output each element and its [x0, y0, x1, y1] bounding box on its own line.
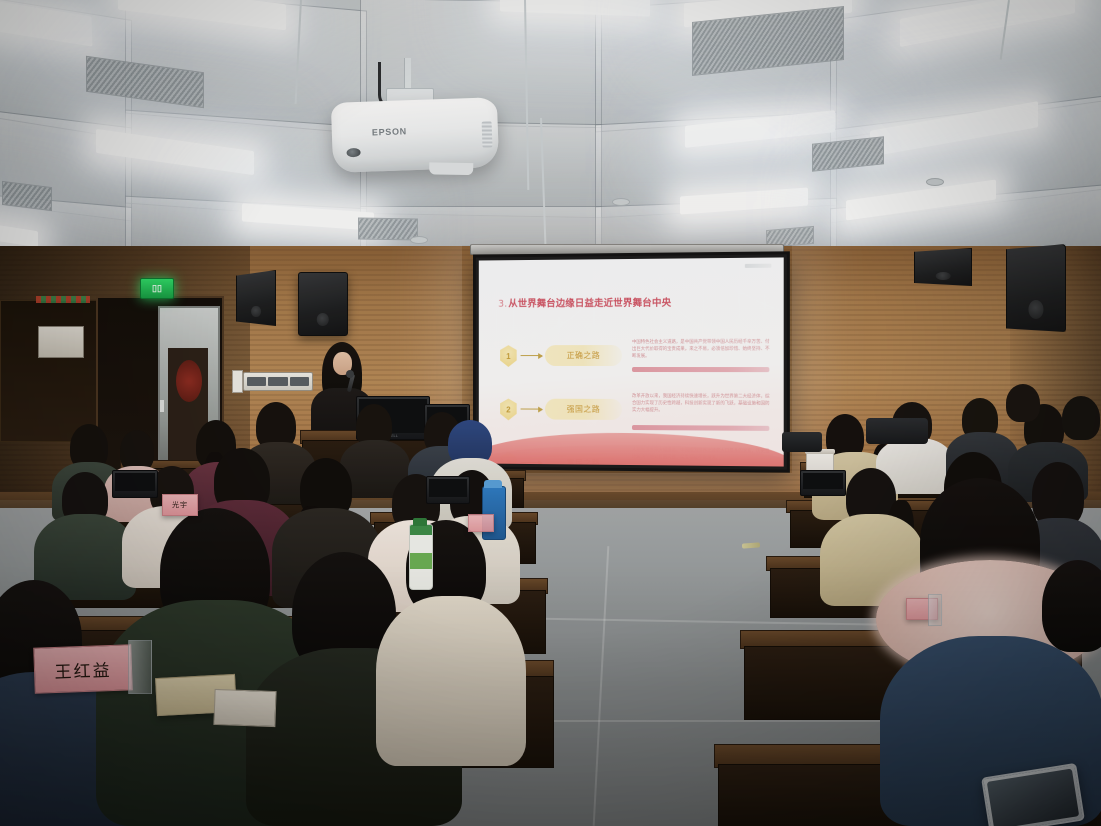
student-head	[1006, 384, 1040, 422]
doorway-red-object	[176, 360, 202, 402]
name-card-front-stand	[128, 640, 152, 694]
drink-bottle-green[interactable]	[409, 524, 433, 590]
exit-sign-glyph: ▯▯	[152, 284, 162, 293]
slide-row-2-label: 强国之路	[567, 404, 601, 415]
slide-row-1: 1 正确之路 中国特色社会主义道路，是中国共产党带领中国人民历经千辛万苦、付出巨…	[479, 335, 784, 390]
slide-title-text: 从世界舞台边缘日益走近世界舞台中央	[508, 298, 671, 310]
door-handle[interactable]	[160, 400, 164, 412]
student-body-front	[376, 596, 526, 766]
projector-vent	[482, 121, 493, 147]
name-card-mid: 光宇	[162, 494, 198, 516]
wall-control-panel[interactable]	[243, 372, 313, 391]
name-card-small-mid	[468, 514, 494, 532]
exit-sign: ▯▯	[140, 278, 174, 299]
slide-row-1-arrow-icon	[521, 355, 543, 356]
student-head	[1062, 396, 1100, 440]
smartphone-screen[interactable]	[987, 769, 1079, 826]
ceiling-air-vent	[358, 217, 418, 240]
slide-row-2-arrow-icon	[521, 409, 543, 410]
wall-notice-board	[38, 326, 84, 358]
wall-speaker-left-large	[298, 272, 348, 336]
name-card-front: 王红益	[33, 644, 133, 693]
slide-row-1-label: 正确之路	[567, 350, 601, 361]
slide-row-2-badge: 2	[500, 399, 517, 421]
projector-lens	[346, 148, 360, 157]
student-monitor	[112, 470, 158, 498]
wall-speaker-left-small	[236, 270, 276, 326]
slide-row-1-pill: 正确之路	[545, 345, 622, 366]
projection-screen: 3.从世界舞台边缘日益走近世界舞台中央 1 正确之路 中国特色社会主义道路，是中…	[473, 251, 790, 472]
wall-switch-strip[interactable]	[232, 370, 243, 393]
name-card-mid-text: 光宇	[172, 500, 188, 510]
presentation-slide: 3.从世界舞台边缘日益走近世界舞台中央 1 正确之路 中国特色社会主义道路，是中…	[479, 257, 784, 466]
epson-projector: EPSON	[331, 97, 499, 173]
slide-title-number: 3.	[498, 299, 507, 310]
slide-row-1-divider	[632, 367, 769, 372]
projector-foot	[429, 162, 473, 175]
ceiling: EPSON	[0, 0, 1101, 268]
wall-panel-left	[0, 300, 98, 442]
chair-back	[782, 432, 822, 452]
wall-speaker-right-large	[1006, 244, 1066, 332]
microphone-head	[346, 370, 354, 378]
wall-indicator-lights-2	[36, 296, 90, 303]
wall-speaker-right-small	[914, 248, 972, 286]
slide-row-2-pill: 强国之路	[545, 399, 622, 420]
student-monitor	[800, 470, 846, 496]
student-head-front	[1042, 560, 1101, 652]
projector-brand-label: EPSON	[372, 126, 407, 137]
chair-back	[866, 418, 928, 444]
slide-row-1-badge: 1	[500, 345, 517, 367]
slide-row-1-body: 中国特色社会主义道路，是中国共产党带领中国人民历经千辛万苦、付出巨大代价取得的宝…	[632, 339, 773, 360]
name-card-small-right-stand	[928, 594, 942, 626]
student-monitor	[426, 476, 470, 504]
name-card-front-text: 王红益	[54, 656, 112, 683]
slide-row-2-divider	[632, 425, 769, 431]
slide-logo	[745, 264, 772, 268]
notebook-page	[213, 689, 276, 727]
slide-row-2-body: 改革开放以来，我国经济持续快速增长，跃升为世界第二大经济体，综合国力实现了历史性…	[632, 393, 773, 415]
blue-thermos-cap	[484, 480, 502, 488]
lecture-hall-photo: EPSON ▯▯ 3.从世界舞台边缘日益走近世界舞台中央 1	[0, 0, 1101, 826]
slide-title: 3.从世界舞台边缘日益走近世界舞台中央	[498, 295, 671, 310]
drink-bottle-cap	[413, 518, 427, 526]
